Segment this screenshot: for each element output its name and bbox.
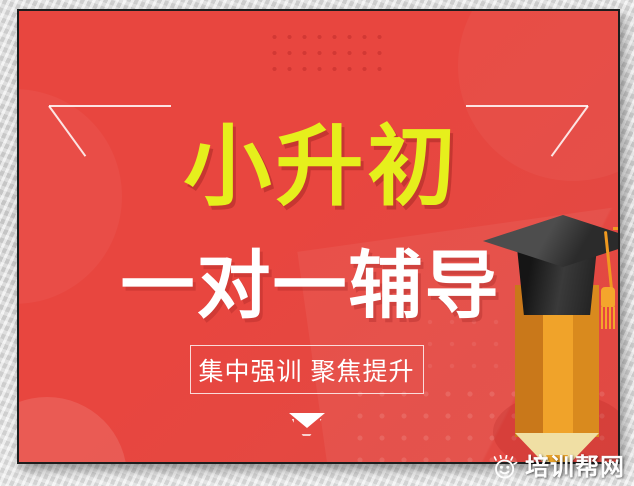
screenshot-canvas: 小升初 一对一辅导 集中强训 聚焦提升 bbox=[0, 0, 634, 486]
dot-grid-top bbox=[265, 27, 383, 75]
watermark: 培训帮网 bbox=[492, 455, 625, 481]
pencil-graduation-illustration bbox=[489, 207, 618, 457]
poster-frame: 小升初 一对一辅导 集中强训 聚焦提升 bbox=[17, 9, 620, 464]
tassel-knot bbox=[601, 287, 615, 309]
tassel-cord-bend bbox=[613, 227, 618, 246]
poster-background: 小升初 一对一辅导 集中强训 聚焦提升 bbox=[19, 11, 618, 462]
chevron-down-icon bbox=[289, 413, 325, 436]
decorative-circle-bottom-left bbox=[19, 397, 127, 462]
poster-headline-primary: 小升初 bbox=[19, 123, 618, 211]
tagline-box: 集中强训 聚焦提升 bbox=[190, 345, 424, 394]
tassel-fringe bbox=[601, 307, 615, 329]
tagline-text: 集中强训 聚焦提升 bbox=[199, 352, 415, 388]
smiley-sun-icon bbox=[492, 455, 518, 481]
watermark-text: 培训帮网 bbox=[525, 456, 625, 480]
graduation-cap-highlight bbox=[483, 215, 618, 267]
